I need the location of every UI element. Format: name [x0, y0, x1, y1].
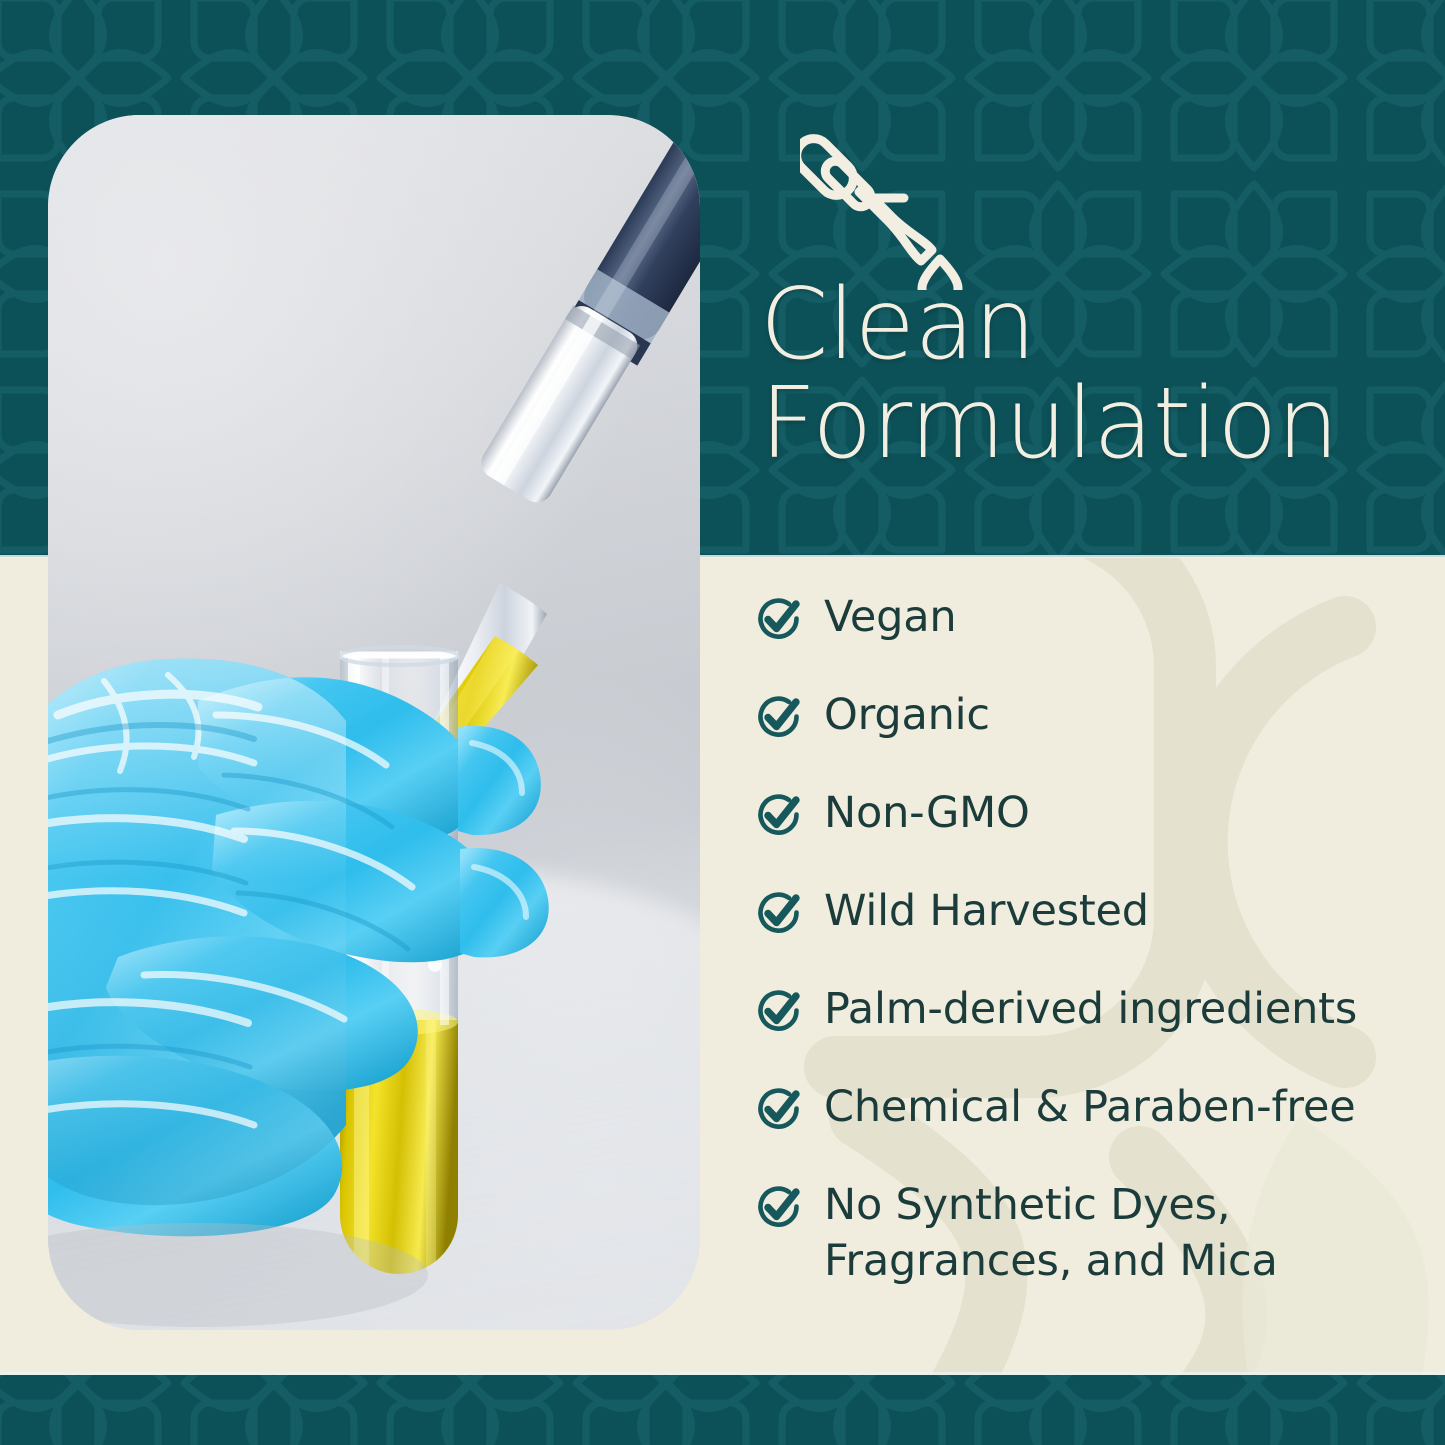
dropper-icon [800, 122, 970, 290]
check-circle-icon [756, 1086, 802, 1132]
list-item-label: Palm-derived ingredients [824, 982, 1357, 1038]
check-circle-icon [756, 694, 802, 740]
list-item: No Synthetic Dyes, Fragrances, and Mica [756, 1178, 1412, 1290]
list-item-label: No Synthetic Dyes, Fragrances, and Mica [824, 1178, 1278, 1290]
product-photo-card [48, 115, 700, 1330]
right-content-column: Clean Formulation Vegan Organic [752, 0, 1412, 1445]
list-item-label: Vegan [824, 590, 956, 646]
list-item-label: Organic [824, 688, 990, 744]
list-item: Palm-derived ingredients [756, 982, 1412, 1080]
list-item-label: Non-GMO [824, 786, 1030, 842]
check-circle-icon [756, 792, 802, 838]
check-circle-icon [756, 1184, 802, 1230]
list-item: Wild Harvested [756, 884, 1412, 982]
list-item-label: Wild Harvested [824, 884, 1149, 940]
check-circle-icon [756, 890, 802, 936]
list-item: Organic [756, 688, 1412, 786]
list-item: Non-GMO [756, 786, 1412, 884]
gloved-hand-icon [48, 115, 700, 1330]
infographic-canvas: Clean Formulation Vegan Organic [0, 0, 1445, 1445]
check-circle-icon [756, 988, 802, 1034]
page-title-line-1: Clean [760, 278, 1410, 373]
page-title: Clean Formulation [760, 278, 1410, 472]
list-item-label: Chemical & Paraben-free [824, 1080, 1355, 1136]
list-item: Chemical & Paraben-free [756, 1080, 1412, 1178]
list-item: Vegan [756, 590, 1412, 688]
feature-checklist: Vegan Organic Non-GMO [756, 590, 1412, 1290]
page-title-line-2: Formulation [760, 377, 1410, 472]
check-circle-icon [756, 596, 802, 642]
